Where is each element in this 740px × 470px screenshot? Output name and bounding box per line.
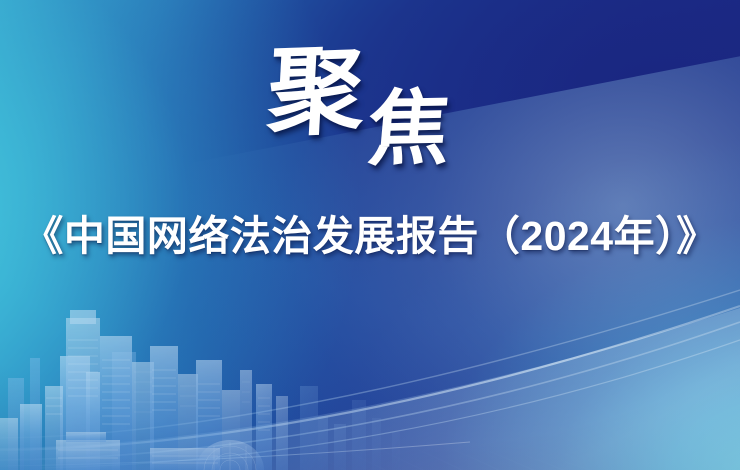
promotional-banner: 聚 焦 《中国网络法治发展报告（2024年）》 [0,0,740,470]
report-title: 《中国网络法治发展报告（2024年）》 [0,205,740,267]
city-skyline-silhouette [0,300,430,470]
